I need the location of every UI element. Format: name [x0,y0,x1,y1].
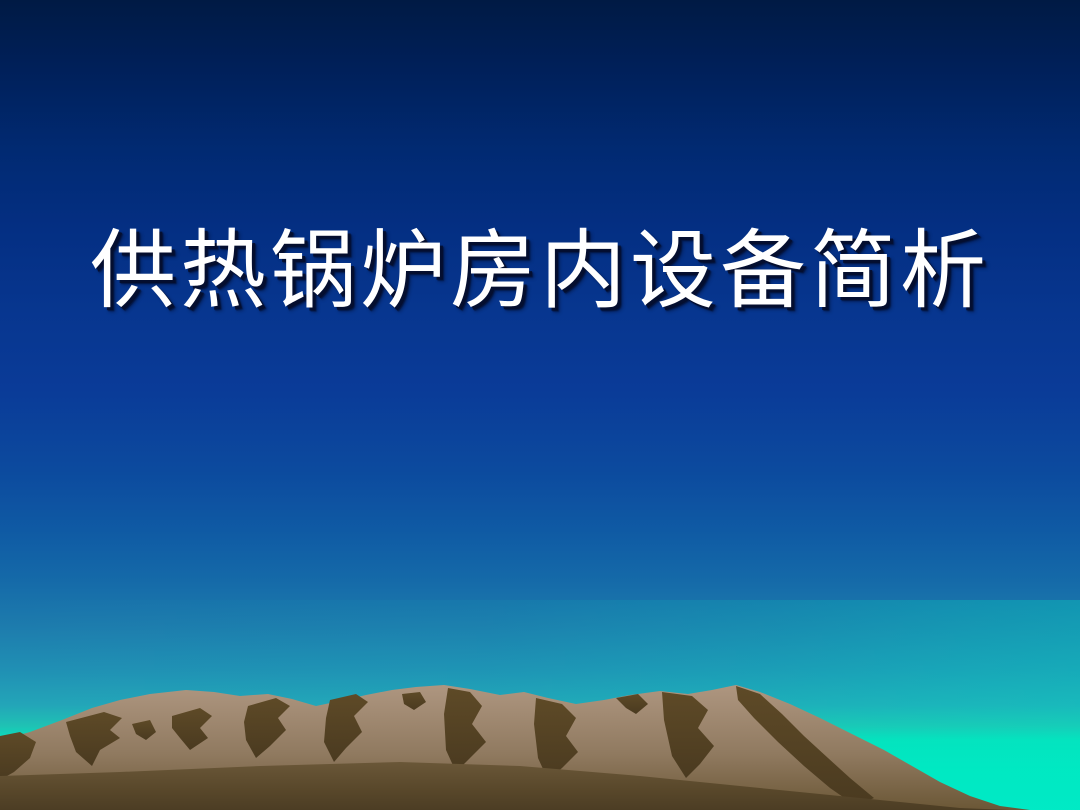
presentation-slide: 供热锅炉房内设备简析 [0,0,1080,810]
mountain-silhouette-artwork [0,680,1080,810]
